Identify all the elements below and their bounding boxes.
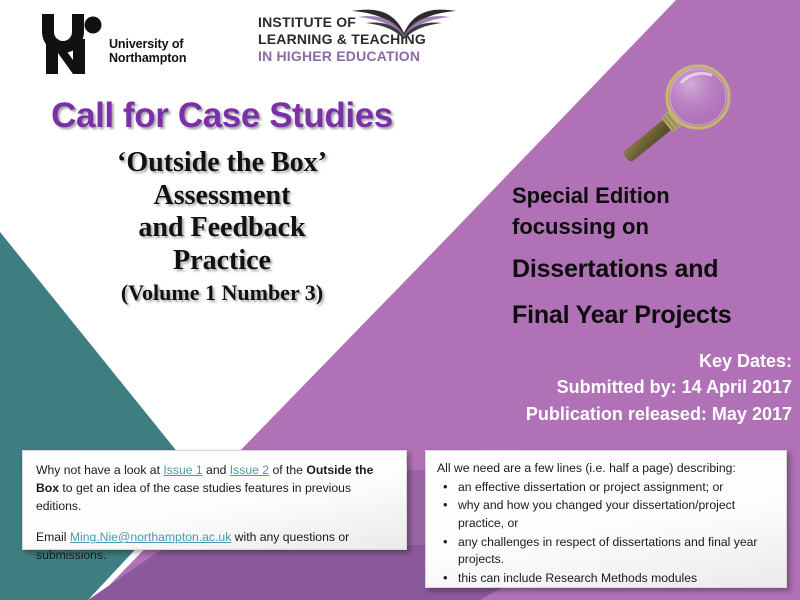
uon-monogram-icon bbox=[40, 12, 102, 76]
list-item: any challenges in respect of dissertatio… bbox=[437, 534, 774, 569]
issue-2-link[interactable]: Issue 2 bbox=[230, 463, 269, 477]
university-of-northampton-logo: University of Northampton bbox=[40, 12, 186, 76]
issue-1-link[interactable]: Issue 1 bbox=[163, 463, 202, 477]
prev-text-4: to get an idea of the case studies featu… bbox=[36, 481, 351, 513]
list-item: this can include Research Methods module… bbox=[437, 570, 774, 588]
page-title: Call for Case Studies bbox=[22, 98, 422, 135]
ilt-logo-line3: IN HIGHER EDUCATION bbox=[258, 48, 426, 65]
prev-text-3: of the bbox=[269, 463, 306, 477]
special-edition-line-2: focussing on bbox=[512, 211, 800, 242]
contact-paragraph: Email Ming.Nie@northampton.ac.uk with an… bbox=[36, 528, 393, 564]
subtitle-line-3: and Feedback bbox=[22, 212, 422, 245]
key-dates-published: Publication released: May 2017 bbox=[292, 401, 792, 427]
previous-issues-callout: Why not have a look at Issue 1 and Issue… bbox=[22, 450, 407, 550]
magnifying-glass-icon bbox=[612, 62, 737, 177]
special-edition-line-1: Special Edition bbox=[512, 180, 800, 211]
key-dates-heading: Key Dates: bbox=[292, 348, 792, 374]
special-edition-line-3: Dissertations and bbox=[512, 252, 800, 288]
requirements-list: an effective dissertation or project ass… bbox=[437, 479, 774, 588]
paragraph-spacer bbox=[36, 515, 393, 528]
submission-requirements-callout: All we need are a few lines (i.e. half a… bbox=[425, 450, 787, 588]
open-book-icon bbox=[350, 5, 458, 44]
key-dates-block: Key Dates: Submitted by: 14 April 2017 P… bbox=[292, 348, 792, 427]
special-edition-block: Special Edition focussing on Dissertatio… bbox=[512, 180, 800, 333]
list-item: an effective dissertation or project ass… bbox=[437, 479, 774, 497]
special-edition-line-4: Final Year Projects bbox=[512, 298, 800, 334]
email-text-1: Email bbox=[36, 530, 70, 544]
key-dates-submitted: Submitted by: 14 April 2017 bbox=[292, 374, 792, 400]
headline-block: Call for Case Studies ‘Outside the Box’ … bbox=[22, 98, 422, 305]
list-item: why and how you changed your dissertatio… bbox=[437, 497, 774, 532]
volume-label: (Volume 1 Number 3) bbox=[22, 280, 422, 306]
prev-text-2: and bbox=[203, 463, 230, 477]
poster-canvas: University of Northampton INSTITUTE OF L… bbox=[0, 0, 800, 600]
uon-logo-text: University of Northampton bbox=[109, 37, 186, 67]
requirements-intro: All we need are a few lines (i.e. half a… bbox=[437, 460, 774, 478]
contact-email-link[interactable]: Ming.Nie@northampton.ac.uk bbox=[70, 530, 231, 544]
uon-logo-line2: Northampton bbox=[109, 51, 186, 66]
subtitle-line-1: ‘Outside the Box’ bbox=[22, 147, 422, 180]
subtitle-line-4: Practice bbox=[22, 245, 422, 278]
subtitle-line-2: Assessment bbox=[22, 180, 422, 213]
uon-logo-line1: University of bbox=[109, 37, 186, 52]
prev-text-1: Why not have a look at bbox=[36, 463, 163, 477]
page-subtitle: ‘Outside the Box’ Assessment and Feedbac… bbox=[22, 147, 422, 306]
institute-of-learning-teaching-logo: INSTITUTE OF LEARNING & TEACHING IN HIGH… bbox=[258, 14, 426, 65]
previous-issues-paragraph: Why not have a look at Issue 1 and Issue… bbox=[36, 461, 393, 515]
